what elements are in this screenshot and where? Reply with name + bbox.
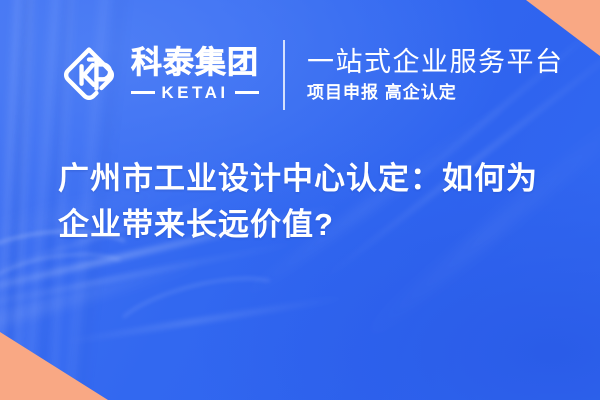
logo-company-name-en: KETAI: [161, 83, 228, 103]
tagline-main: 一站式企业服务平台: [307, 47, 564, 79]
logo-rule-right: [235, 91, 259, 94]
logo-company-name-en-row: KETAI: [131, 83, 259, 103]
tagline-block: 一站式企业服务平台 项目申报 高企认定: [307, 47, 564, 103]
headline-line-1: 广州市工业设计中心认定：如何为: [58, 156, 558, 202]
logo-company-name-cn: 科泰集团: [131, 47, 259, 80]
silk-sheen: [0, 242, 297, 314]
banner-header: 科泰集团 KETAI 一站式企业服务平台 项目申报 高企认定: [58, 40, 564, 110]
ketai-diamond-monogram-icon: [58, 44, 120, 106]
silk-wisp: [0, 242, 145, 340]
logo-wordmark: 科泰集团 KETAI: [131, 47, 259, 103]
headline-line-2: 企业带来长远价值?: [58, 202, 558, 248]
company-logo[interactable]: 科泰集团 KETAI: [58, 44, 259, 106]
silk-wisp: [105, 263, 294, 365]
headline-block: 广州市工业设计中心认定：如何为 企业带来长远价值?: [58, 156, 558, 248]
tagline-sub: 项目申报 高企认定: [307, 83, 564, 103]
corner-accent-bottom-left: [0, 332, 108, 400]
header-divider: [283, 40, 285, 110]
logo-rule-left: [131, 91, 155, 94]
promo-banner: 科泰集团 KETAI 一站式企业服务平台 项目申报 高企认定 广州市工业设计中心…: [0, 0, 600, 400]
